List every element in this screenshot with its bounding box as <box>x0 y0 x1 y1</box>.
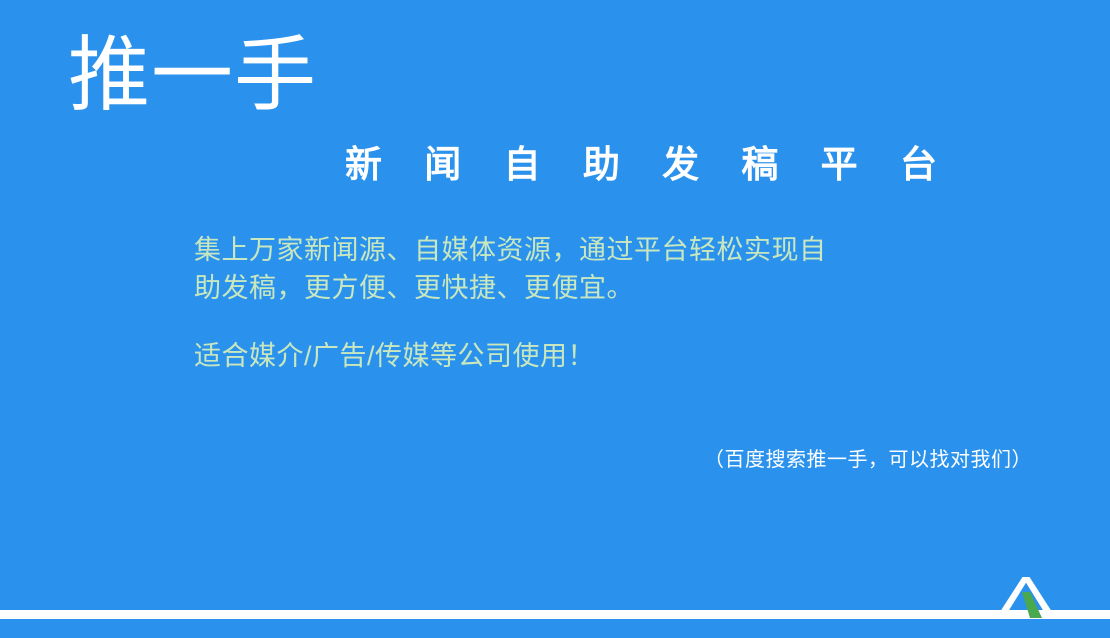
body-copy: 集上万家新闻源、自媒体资源，通过平台轻松实现自 助发稿，更方便、更快捷、更便宜。… <box>194 231 894 375</box>
bottom-mark <box>986 570 1066 625</box>
peak-chevron-icon <box>986 570 1066 625</box>
presentation-slide: 推一手 新 闻 自 助 发 稿 平 台 集上万家新闻源、自媒体资源，通过平台轻松… <box>0 0 1110 638</box>
paragraph-spacer <box>194 307 894 337</box>
footnote: （百度搜索推一手，可以找对我们） <box>704 446 1032 474</box>
bottom-rule <box>0 610 1110 619</box>
slide-subtitle: 新 闻 自 助 发 稿 平 台 <box>345 142 953 188</box>
body-line: 适合媒介/广告/传媒等公司使用！ <box>194 337 894 375</box>
body-line: 助发稿，更方便、更快捷、更便宜。 <box>194 269 894 307</box>
body-line: 集上万家新闻源、自媒体资源，通过平台轻松实现自 <box>194 231 894 269</box>
brand-logo: 推一手 <box>68 33 317 119</box>
